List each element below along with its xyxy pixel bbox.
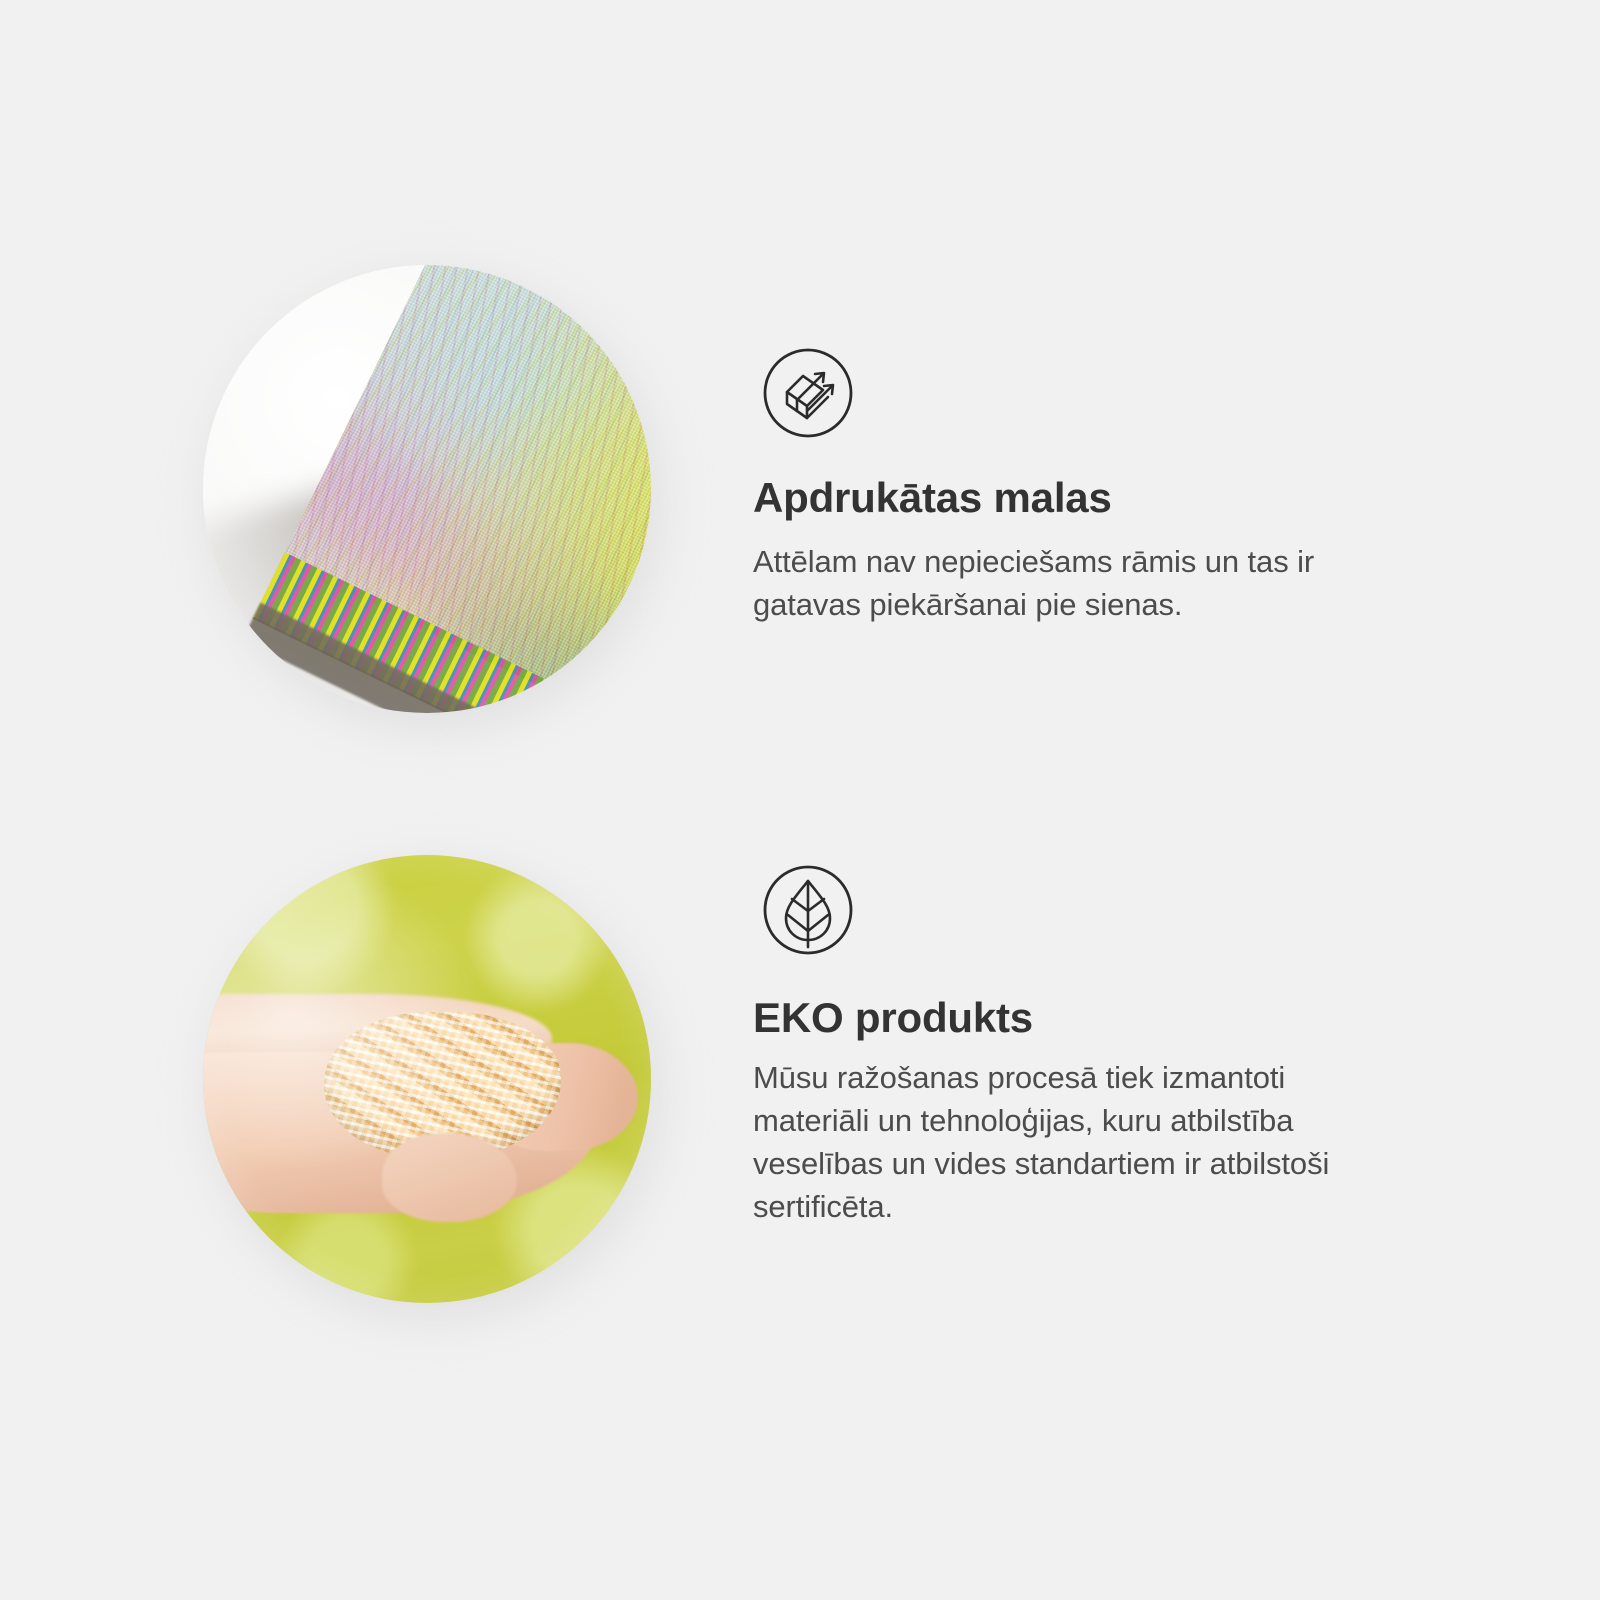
canvas-scene	[203, 265, 651, 713]
photo-circle-mask	[203, 855, 651, 1303]
feature-block-eko-product: EKO produkts Mūsu ražošanas procesā tiek…	[0, 820, 1600, 1440]
feature-text-column: Apdrukātas malas Attēlam nav nepieciešam…	[753, 230, 1473, 627]
photo-vignette	[203, 855, 651, 1303]
eco-scene	[203, 855, 651, 1303]
feature-title: EKO produkts	[753, 993, 1473, 1043]
canvas-print-corner-photo	[203, 265, 651, 713]
feature-description: Attēlam nav nepieciešams rāmis un tas ir…	[753, 541, 1473, 627]
canvas-wrapped-edges-icon	[753, 338, 863, 448]
feature-text-column: EKO produkts Mūsu ražošanas procesā tiek…	[753, 820, 1473, 1228]
hands-holding-wood-chips-photo	[203, 855, 651, 1303]
photo-circle-mask	[203, 265, 651, 713]
feature-title: Apdrukātas malas	[753, 473, 1473, 523]
feature-block-printed-edges: Apdrukātas malas Attēlam nav nepieciešam…	[0, 230, 1600, 850]
leaf-icon	[753, 855, 863, 965]
feature-description: Mūsu ražošanas procesā tiek izmantoti ma…	[753, 1057, 1473, 1228]
product-features-page: Apdrukātas malas Attēlam nav nepieciešam…	[0, 0, 1600, 1600]
